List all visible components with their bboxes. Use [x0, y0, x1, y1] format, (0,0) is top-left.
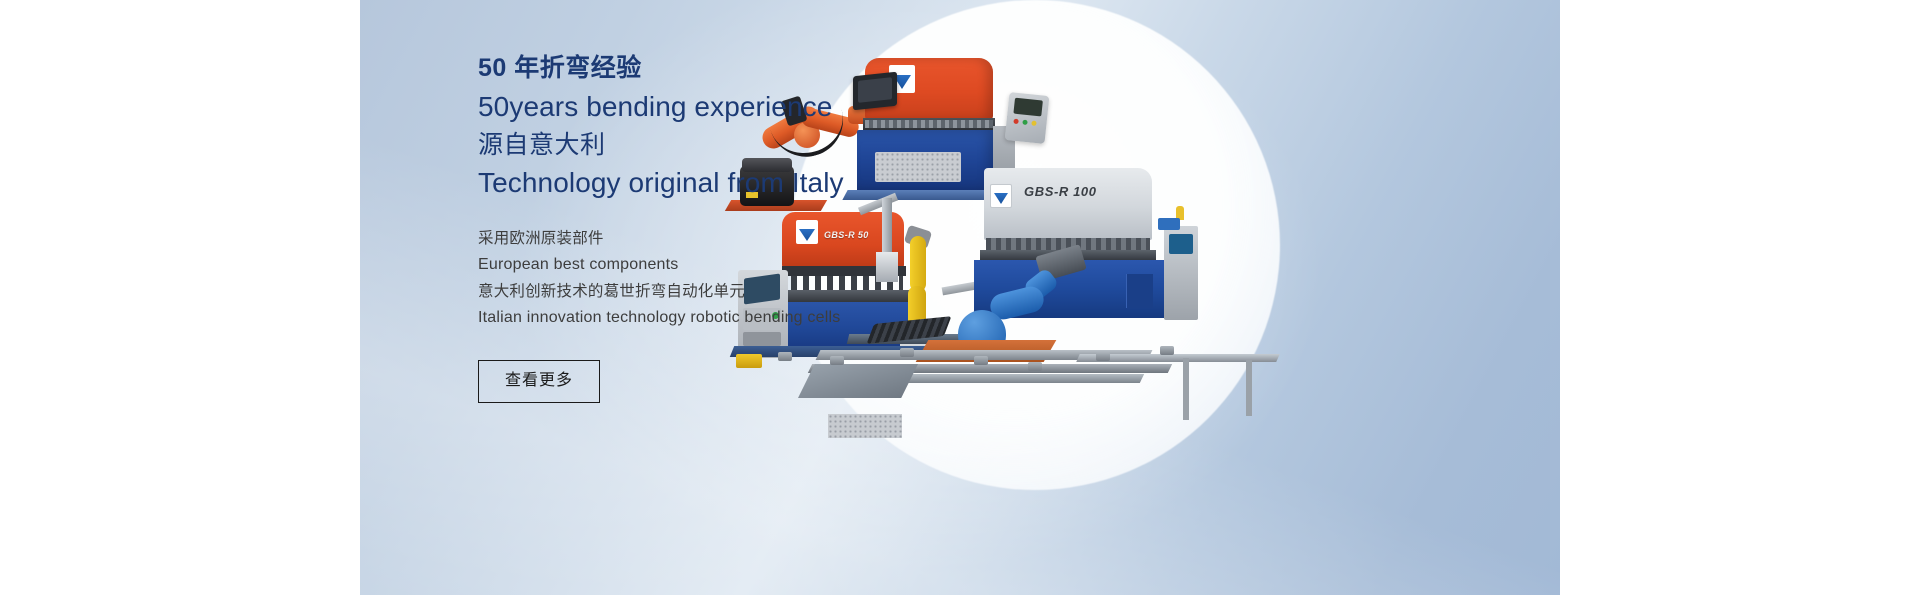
headline-line1-en: 50years bending experience — [478, 89, 1178, 126]
headline-line2-en: Technology original from Italy — [478, 165, 1178, 202]
headline-line1-cn: 50 年折弯经验 — [478, 52, 1178, 85]
view-more-button[interactable]: 查看更多 — [478, 360, 600, 403]
subtext-line-1: 采用欧洲原装部件 — [478, 226, 1178, 252]
hero-subtext: 采用欧洲原装部件 European best components 意大利创新技… — [478, 226, 1178, 332]
subtext-line-3: 意大利创新技术的葛世折弯自动化单元 — [478, 279, 1178, 305]
page-root: GBS-R 50 — [0, 0, 1920, 595]
subtext-line-2: European best components — [478, 252, 1178, 279]
subtext-line-4: Italian innovation technology robotic be… — [478, 305, 1178, 332]
hero-banner: GBS-R 50 — [360, 0, 1560, 595]
headline-line2-cn: 源自意大利 — [478, 129, 1178, 162]
hero-copy: 50 年折弯经验 50years bending experience 源自意大… — [478, 52, 1178, 403]
